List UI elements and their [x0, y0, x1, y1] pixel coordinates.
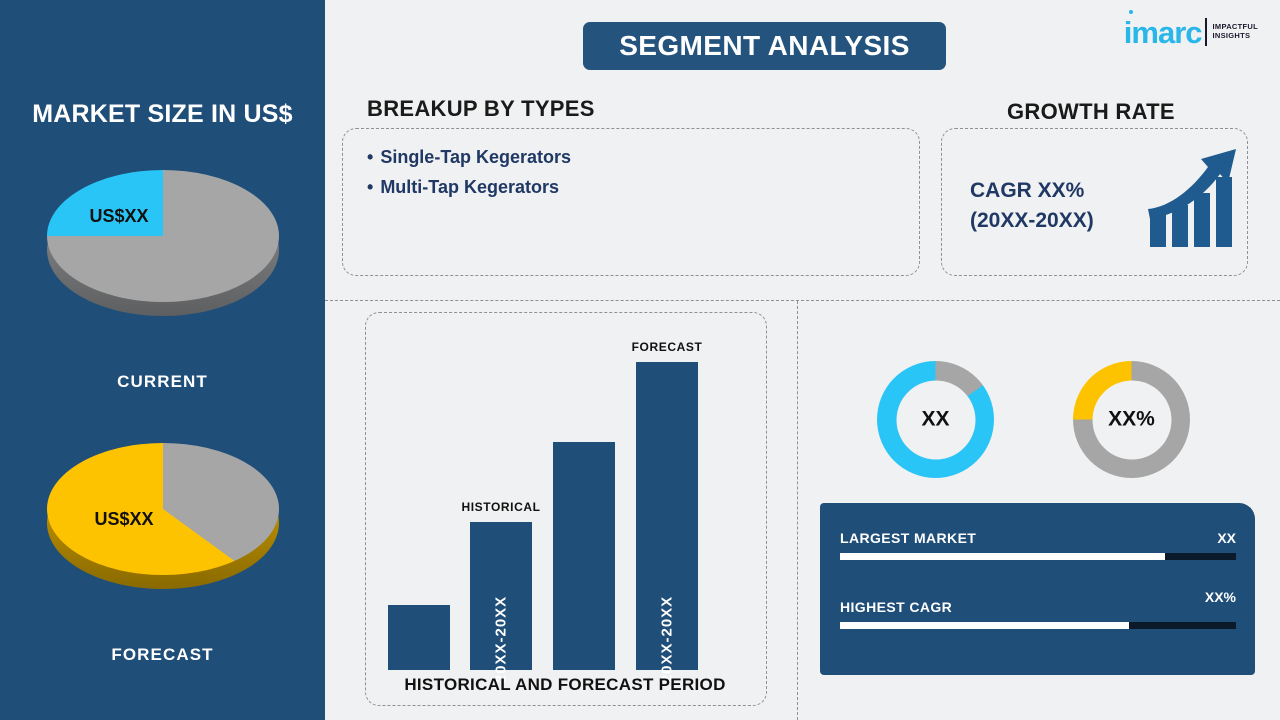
growth-heading: GROWTH RATE	[1007, 99, 1175, 125]
pie-value-forecast: US$XX	[95, 509, 154, 530]
type-label: Multi-Tap Kegerators	[380, 177, 559, 197]
stat-label: LARGEST MARKET	[840, 530, 976, 546]
bar-3: 20XX-20XX	[636, 362, 698, 670]
stat-progress-track	[840, 553, 1236, 560]
bullet-icon: •	[367, 147, 373, 167]
logo-tagline-line2: INSIGHTS	[1213, 32, 1258, 41]
growth-period-line: (20XX-20XX)	[970, 206, 1094, 236]
historical-annotation: HISTORICAL	[450, 500, 552, 514]
pie-3d-forecast: US$XX	[47, 443, 279, 603]
donut-value-volume: XX	[921, 408, 949, 432]
donut-chart-share: XX%	[1073, 361, 1190, 478]
pie-value-current: US$XX	[90, 206, 149, 227]
pie-label-current: CURRENT	[0, 372, 325, 392]
stats-panel: LARGEST MARKET XX HIGHEST CAGR XX%	[820, 503, 1255, 675]
horizontal-divider	[325, 300, 1280, 301]
pie-top-forecast	[47, 443, 279, 575]
logo-text: imarc	[1124, 15, 1202, 50]
donut-hole: XX%	[1092, 380, 1171, 459]
bar-2	[553, 442, 615, 670]
donut-hole: XX	[896, 380, 975, 459]
stat-progress-track	[840, 622, 1236, 629]
bar-chart: 20XX-20XX HISTORICAL 20XX-20XX FORECAST	[380, 330, 755, 670]
type-label: Single-Tap Kegerators	[380, 147, 571, 167]
growth-cagr-line: CAGR XX%	[970, 176, 1094, 206]
bar-0	[388, 605, 450, 670]
stat-value: XX%	[1205, 589, 1236, 605]
forecast-pie-chart: US$XX FORECAST	[0, 443, 325, 665]
growth-rate-text: CAGR XX% (20XX-20XX)	[970, 176, 1094, 236]
sidebar-title: MARKET SIZE IN US$	[0, 100, 325, 129]
donut-chart-volume: XX	[877, 361, 994, 478]
forecast-annotation: FORECAST	[619, 340, 715, 354]
list-item: •Single-Tap Kegerators	[367, 142, 571, 172]
pie-label-forecast: FORECAST	[0, 645, 325, 665]
market-size-sidebar: MARKET SIZE IN US$ US$XX CURRENT US$XX F…	[0, 0, 325, 720]
page-title: SEGMENT ANALYSIS	[583, 22, 946, 70]
imarc-logo: imarc IMPACTFUL INSIGHTS	[1124, 12, 1258, 52]
bar-3-label: 20XX-20XX	[659, 596, 676, 683]
vertical-divider	[797, 301, 798, 720]
types-heading: BREAKUP BY TYPES	[367, 96, 595, 122]
stat-progress-fill	[840, 553, 1165, 560]
list-item: •Multi-Tap Kegerators	[367, 172, 571, 202]
stat-value: XX	[1217, 530, 1236, 546]
logo-tagline: IMPACTFUL INSIGHTS	[1213, 23, 1258, 40]
bullet-icon: •	[367, 177, 373, 197]
stat-label: HIGHEST CAGR	[840, 599, 952, 615]
logo-divider-icon	[1205, 18, 1207, 46]
content-area: SEGMENT ANALYSIS imarc IMPACTFUL INSIGHT…	[325, 0, 1280, 720]
types-list: •Single-Tap Kegerators •Multi-Tap Kegera…	[367, 142, 571, 202]
infographic-page: MARKET SIZE IN US$ US$XX CURRENT US$XX F…	[0, 0, 1280, 720]
growth-arrow-bars-icon	[1148, 145, 1240, 255]
stat-progress-fill	[840, 622, 1129, 629]
page-title-text: SEGMENT ANALYSIS	[619, 30, 910, 62]
chart-xlabel: HISTORICAL AND FORECAST PERIOD	[365, 675, 765, 695]
logo-wordmark: imarc	[1124, 17, 1202, 48]
donut-value-share: XX%	[1108, 408, 1155, 432]
current-pie-chart: US$XX CURRENT	[0, 170, 325, 392]
bar-1-label: 20XX-20XX	[493, 596, 510, 683]
pie-top-current	[47, 170, 279, 302]
logo-dot-icon	[1129, 10, 1133, 14]
bar-1: 20XX-20XX	[470, 522, 532, 670]
pie-3d-current: US$XX	[47, 170, 279, 330]
